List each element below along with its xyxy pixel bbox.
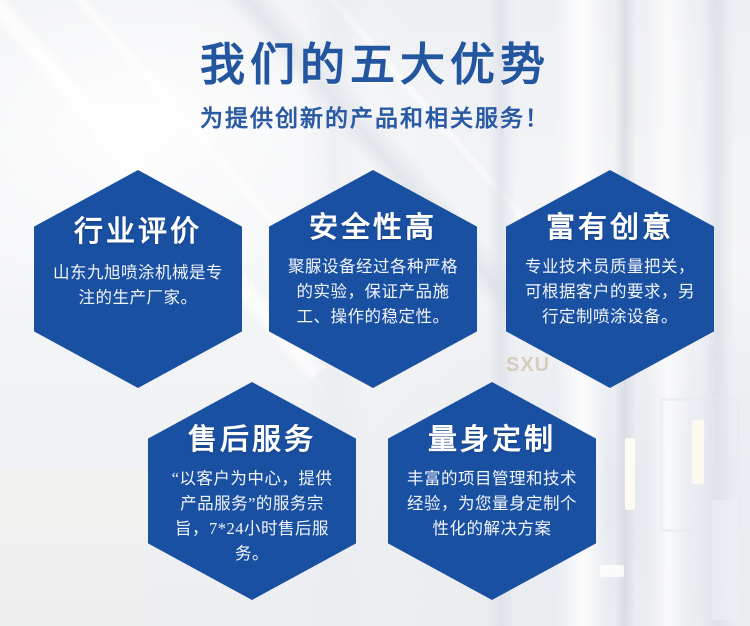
page-title: 我们的五大优势 [0,38,750,92]
advantage-title: 售后服务 [154,382,350,458]
advantage-title: 量身定制 [394,382,590,458]
advantage-card-tailor-made[interactable]: 量身定制 丰富的项目管理和技术经验，为您量身定制个性化的解决方案 [388,382,596,600]
advantage-body: 聚脲设备经过各种严格的实验，保证产品施工、操作的稳定性。 [285,254,461,329]
advantage-card-creative[interactable]: 富有创意 专业技术员质量把关，可根据客户的要求，另行定制喷涂设备。 [506,170,714,388]
page-subtitle: 为提供创新的产品和相关服务！ [0,104,750,134]
five-advantages-banner: SXU 我们的五大优势 为提供创新的产品和相关服务！ 行业评价 山东九旭喷涂机械… [0,0,750,626]
advantage-body: 丰富的项目管理和技术经验，为您量身定制个性化的解决方案 [404,466,580,541]
advantage-body: 专业技术员质量把关，可根据客户的要求，另行定制喷涂设备。 [522,254,698,329]
advantage-card-high-safety[interactable]: 安全性高 聚脲设备经过各种严格的实验，保证产品施工、操作的稳定性。 [269,170,477,388]
advantage-card-after-sales-service[interactable]: 售后服务 “以客户为中心，提供产品服务”的服务宗旨，7*24小时售后服务。 [148,382,356,600]
advantage-body: “以客户为中心，提供产品服务”的服务宗旨，7*24小时售后服务。 [164,466,340,566]
advantage-title: 富有创意 [512,170,708,246]
advantage-card-industry-reputation[interactable]: 行业评价 山东九旭喷涂机械是专注的生产厂家。 [34,170,242,388]
advantage-title: 行业评价 [40,170,236,250]
banner-header: 我们的五大优势 为提供创新的产品和相关服务！ [0,38,750,134]
advantage-body: 山东九旭喷涂机械是专注的生产厂家。 [50,260,226,310]
advantage-title: 安全性高 [275,170,471,246]
